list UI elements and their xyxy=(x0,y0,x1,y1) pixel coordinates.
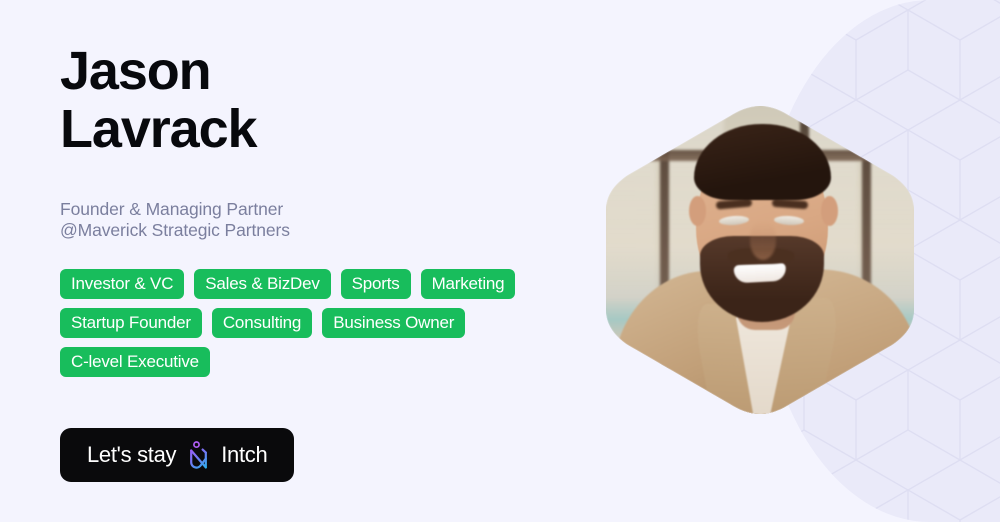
cta-label-after: Intch xyxy=(221,444,267,466)
profile-card: Jason Lavrack Founder & Managing Partner… xyxy=(0,0,1000,522)
tag-chip[interactable]: Business Owner xyxy=(322,308,465,338)
tag-chip[interactable]: Startup Founder xyxy=(60,308,202,338)
profile-info-column: Jason Lavrack Founder & Managing Partner… xyxy=(0,0,600,522)
tag-chip[interactable]: Consulting xyxy=(212,308,312,338)
profile-photo xyxy=(604,104,916,416)
portrait-hexagon-clip xyxy=(604,104,916,416)
tag-list: Investor & VC Sales & BizDev Sports Mark… xyxy=(60,269,560,377)
intch-n-logo-icon xyxy=(185,440,212,470)
tag-chip[interactable]: Marketing xyxy=(421,269,516,299)
cta-label-before: Let's stay xyxy=(87,444,176,466)
tag-chip[interactable]: Sports xyxy=(341,269,411,299)
lets-stay-intch-button[interactable]: Let's stay Int xyxy=(60,428,294,482)
page-title: Jason Lavrack xyxy=(60,42,530,158)
tag-chip[interactable]: Sales & BizDev xyxy=(194,269,330,299)
tag-chip[interactable]: Investor & VC xyxy=(60,269,184,299)
profile-headline: Founder & Managing Partner @Maverick Str… xyxy=(60,199,540,241)
tag-chip[interactable]: C-level Executive xyxy=(60,347,210,377)
